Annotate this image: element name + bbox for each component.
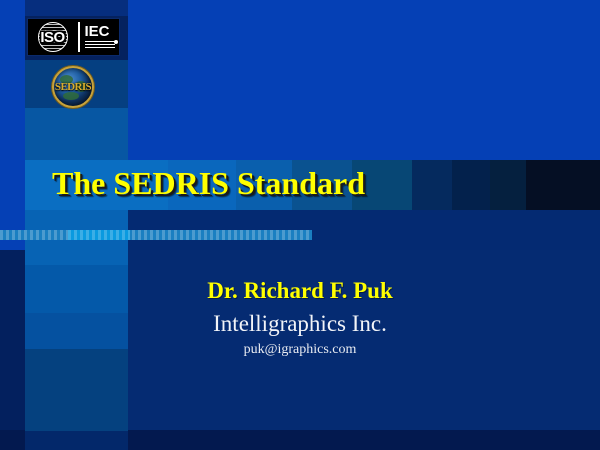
bg-column-block [25,0,128,16]
iec-logo-text: IEC [85,24,110,39]
iso-globe-icon: ISO [33,22,73,52]
bg-title-band [412,160,452,210]
presenter-name: Dr. Richard F. Puk [0,277,600,304]
bg-column-block [25,108,128,160]
sedris-logo-text: SEDRIS [55,81,91,93]
bg-title-band [490,160,526,210]
bg-top-field [128,0,600,160]
bg-column-block [25,431,128,450]
iec-mark: IEC [85,22,115,52]
iso-iec-logo: ISO IEC [27,18,120,56]
logo-divider [78,22,80,52]
iso-logo-text: ISO [40,29,64,46]
globe-landmass-icon [63,92,79,100]
bg-title-band [526,160,600,210]
iec-dot-icon [114,40,118,44]
bg-left-strip-segment [0,0,25,258]
presenter-company: Intelligraphics Inc. [0,310,600,337]
bg-title-band [452,160,490,210]
bg-column-block [25,349,128,431]
presentation-slide: ISO IEC SEDRIS The SEDRIS Standard Dr. R… [0,0,600,450]
presenter-email: puk@igraphics.com [0,341,600,358]
slide-title: The SEDRIS Standard [52,164,365,202]
accent-stripe-highlight [68,230,130,240]
iec-rule-lines [85,41,115,50]
sedris-globe-logo: SEDRIS [52,66,94,108]
accent-stripe [0,230,312,240]
slide-background [0,0,600,450]
